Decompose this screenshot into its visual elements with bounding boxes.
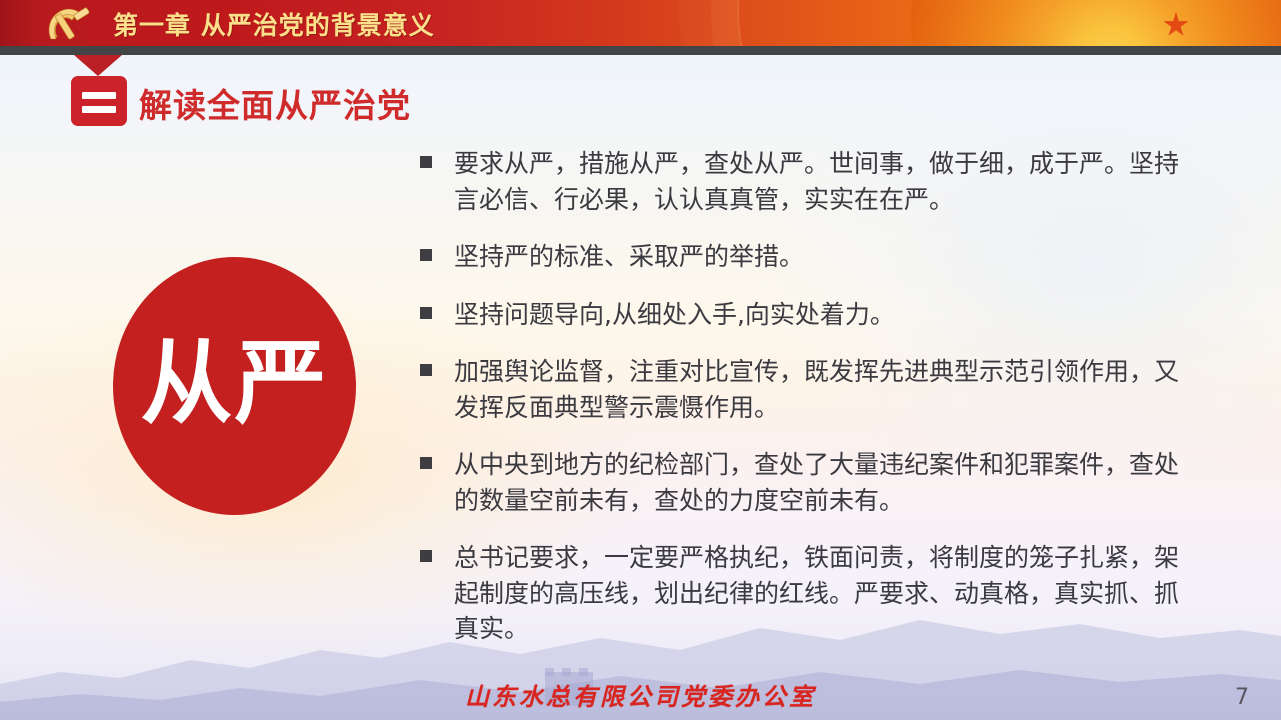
header-radial-burst	[911, 0, 1281, 46]
bullet-text: 要求从严，措施从严，查处从严。世间事，做于细，成于严。坚持言必信、行必果，认认真…	[454, 146, 1200, 217]
bullet-text: 总书记要求，一定要严格执纪，铁面问责，将制度的笼子扎紧，架起制度的高压线，划出纪…	[454, 540, 1200, 647]
list-item: 要求从严，措施从严，查处从严。世间事，做于细，成于严。坚持言必信、行必果，认认真…	[420, 146, 1200, 217]
hammer-and-sickle-emblem-icon	[36, 2, 110, 46]
square-bullet-icon	[420, 307, 432, 319]
square-bullet-icon	[420, 249, 432, 261]
footer-organization-name: 山东水总有限公司党委办公室	[0, 677, 1281, 712]
slide-header-band: 第一章 从严治党的背景意义	[0, 0, 1281, 46]
chapter-title: 第一章 从严治党的背景意义	[113, 6, 435, 42]
circle-emblem-label: 从严	[140, 338, 328, 430]
badge-stroke-upper	[82, 92, 116, 99]
section-ribbon-decoration	[74, 55, 122, 76]
page-number: 7	[1235, 685, 1249, 710]
badge-stroke-lower	[82, 106, 116, 113]
presentation-slide: 第一章 从严治党的背景意义 解读全面从严治党 从严 要求从严，措施从严，查处从严…	[0, 0, 1281, 720]
section-number-badge	[71, 76, 127, 126]
square-bullet-icon	[420, 364, 432, 376]
bullet-list: 要求从严，措施从严，查处从严。世间事，做于细，成于严。坚持言必信、行必果，认认真…	[420, 146, 1200, 669]
section-title: 解读全面从严治党	[139, 79, 411, 127]
bullet-text: 坚持问题导向,从细处入手,向实处着力。	[454, 297, 1200, 333]
list-item: 总书记要求，一定要严格执纪，铁面问责，将制度的笼子扎紧，架起制度的高压线，划出纪…	[420, 540, 1200, 647]
bullet-text: 加强舆论监督，注重对比宣传，既发挥先进典型示范引领作用，又发挥反面典型警示震慑作…	[454, 354, 1200, 425]
bullet-text: 从中央到地方的纪检部门，查处了大量违纪案件和犯罪案件，查处的数量空前未有，查处的…	[454, 447, 1200, 518]
header-divider-bar	[0, 46, 1281, 55]
list-item: 坚持严的标准、采取严的举措。	[420, 239, 1200, 275]
list-item: 加强舆论监督，注重对比宣传，既发挥先进典型示范引领作用，又发挥反面典型警示震慑作…	[420, 354, 1200, 425]
list-item: 坚持问题导向,从细处入手,向实处着力。	[420, 297, 1200, 333]
red-circle-emblem: 从严	[113, 257, 356, 515]
bullet-text: 坚持严的标准、采取严的举措。	[454, 239, 1200, 275]
list-item: 从中央到地方的纪检部门，查处了大量违纪案件和犯罪案件，查处的数量空前未有，查处的…	[420, 447, 1200, 518]
square-bullet-icon	[420, 156, 432, 168]
square-bullet-icon	[420, 550, 432, 562]
square-bullet-icon	[420, 457, 432, 469]
